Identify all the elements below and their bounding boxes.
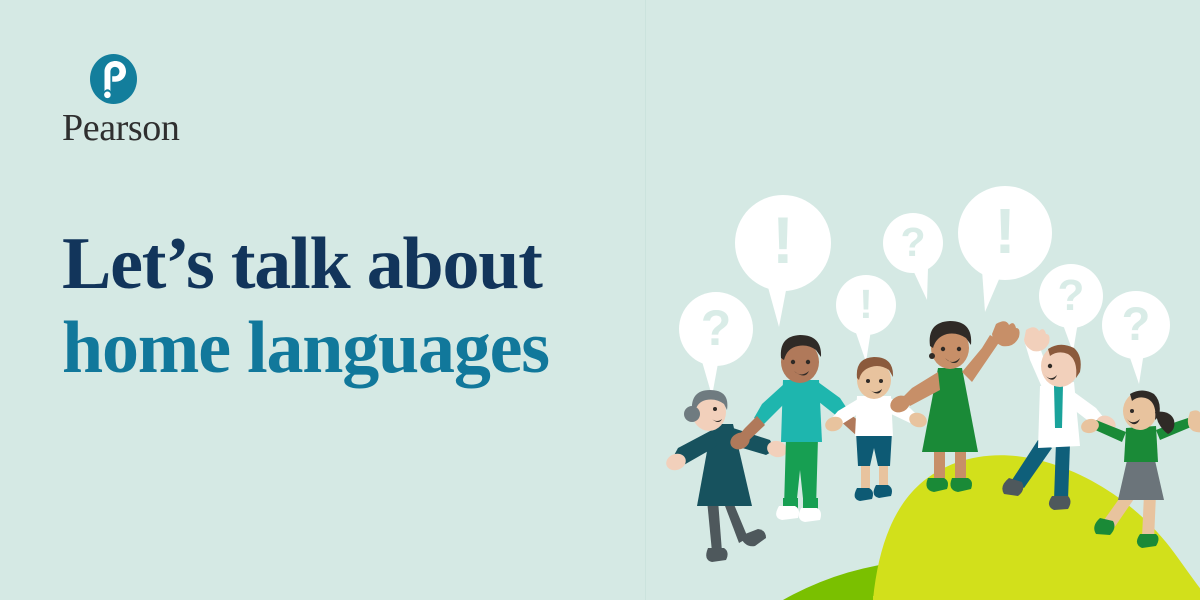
speech-bubble-question-4: ? [1102,291,1170,384]
headline-line-1: Let’s talk about [62,222,632,306]
svg-text:?: ? [900,219,925,265]
figure-man-shirt-tie [1002,327,1118,510]
speech-bubble-exclaim-2: ! [836,275,896,362]
speech-bubble-exclaim-3: ! [958,186,1052,312]
svg-text:?: ? [1122,297,1151,350]
svg-text:?: ? [701,300,732,356]
pearson-interrobang-p-icon [90,54,137,106]
pearson-logo[interactable]: Pearson [62,54,302,148]
page-title: Let’s talk about home languages [62,222,632,390]
speech-bubble-exclaim-1: ! [735,195,831,327]
illustration-people-on-globe: ? ! ? ! [646,0,1200,600]
headline-line-2: home languages [62,306,632,390]
svg-text:!: ! [772,203,794,277]
speech-bubble-question-2: ? [883,213,943,300]
figure-boy-white-shirt [823,357,929,501]
svg-text:?: ? [1058,271,1085,320]
pearson-wordmark: Pearson [62,108,302,148]
svg-text:!: ! [994,195,1015,267]
pearson-home-languages-banner: Pearson Let’s talk about home languages [0,0,1200,600]
speech-bubble-question-1: ? [679,292,753,396]
svg-text:!: ! [859,281,873,327]
speech-bubbles-group: ? ! ? ! [679,186,1170,396]
globe-light-green-fill-strip [873,596,1200,600]
